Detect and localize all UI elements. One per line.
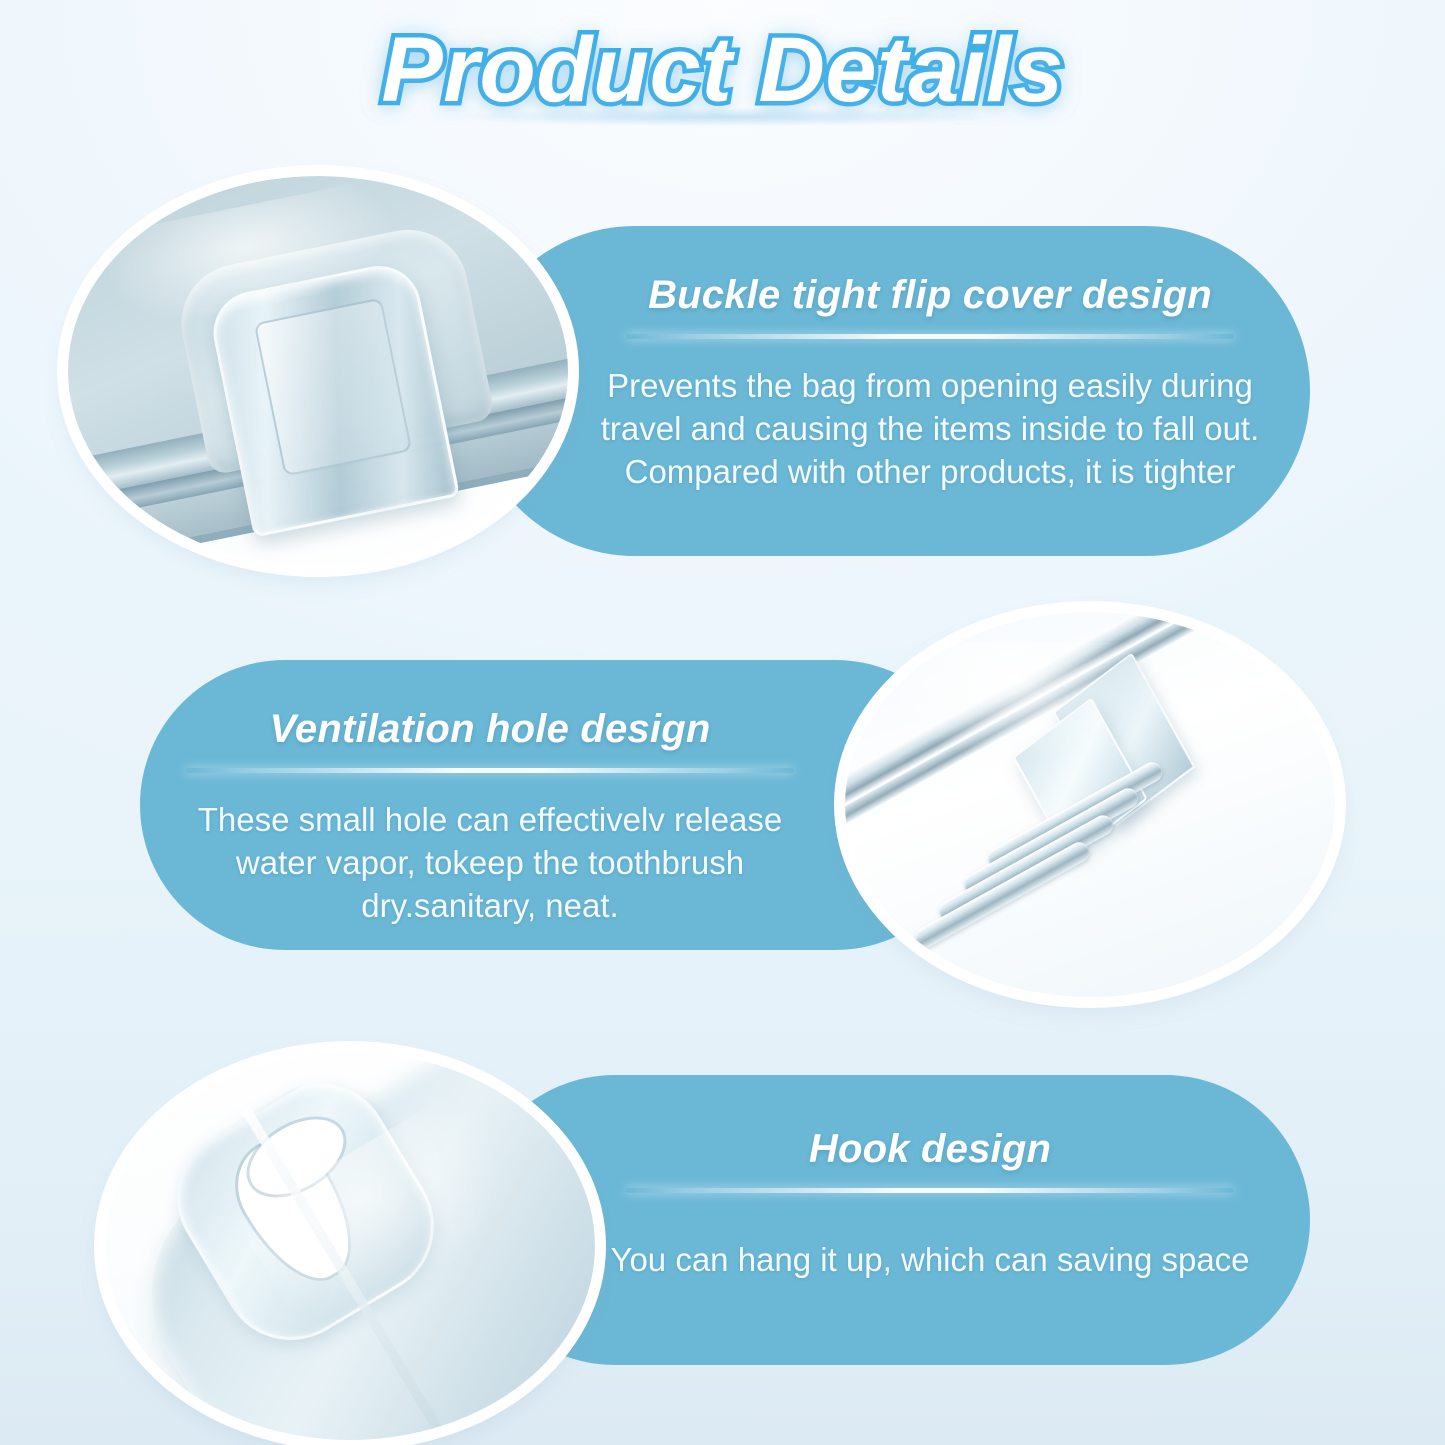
section-body-buckle: Prevents the bag from opening easily dur… [600, 365, 1260, 494]
section-text-buckle: Buckle tight flip cover design Prevents … [600, 272, 1260, 494]
heading-divider [186, 768, 793, 773]
hook-keyhole-photo [105, 1052, 595, 1440]
buckle-clasp-photo [68, 176, 568, 566]
buckle-clasp-photo-inner [68, 176, 568, 566]
section-heading-ventilation: Ventilation hole design [160, 706, 820, 752]
product-details-page: Product Details Buckle tight flip cover … [0, 0, 1445, 1445]
ventilation-holes-photo-inner [845, 612, 1335, 997]
hook-keyhole-photo-inner [105, 1052, 595, 1440]
section-text-hook: Hook design You can hang it up, which ca… [600, 1126, 1260, 1282]
page-title: Product Details [381, 22, 1063, 119]
heading-divider [626, 1188, 1233, 1193]
section-body-ventilation: These small hole can effectivelv release… [160, 799, 820, 928]
section-body-hook: You can hang it up, which can saving spa… [600, 1239, 1260, 1282]
heading-divider [626, 334, 1233, 339]
section-text-ventilation: Ventilation hole design These small hole… [160, 706, 820, 928]
ventilation-holes-photo [845, 612, 1335, 997]
specular-highlight [894, 643, 1188, 759]
section-heading-hook: Hook design [600, 1126, 1260, 1172]
page-title-container: Product Details [0, 22, 1445, 142]
section-heading-buckle: Buckle tight flip cover design [600, 272, 1260, 318]
